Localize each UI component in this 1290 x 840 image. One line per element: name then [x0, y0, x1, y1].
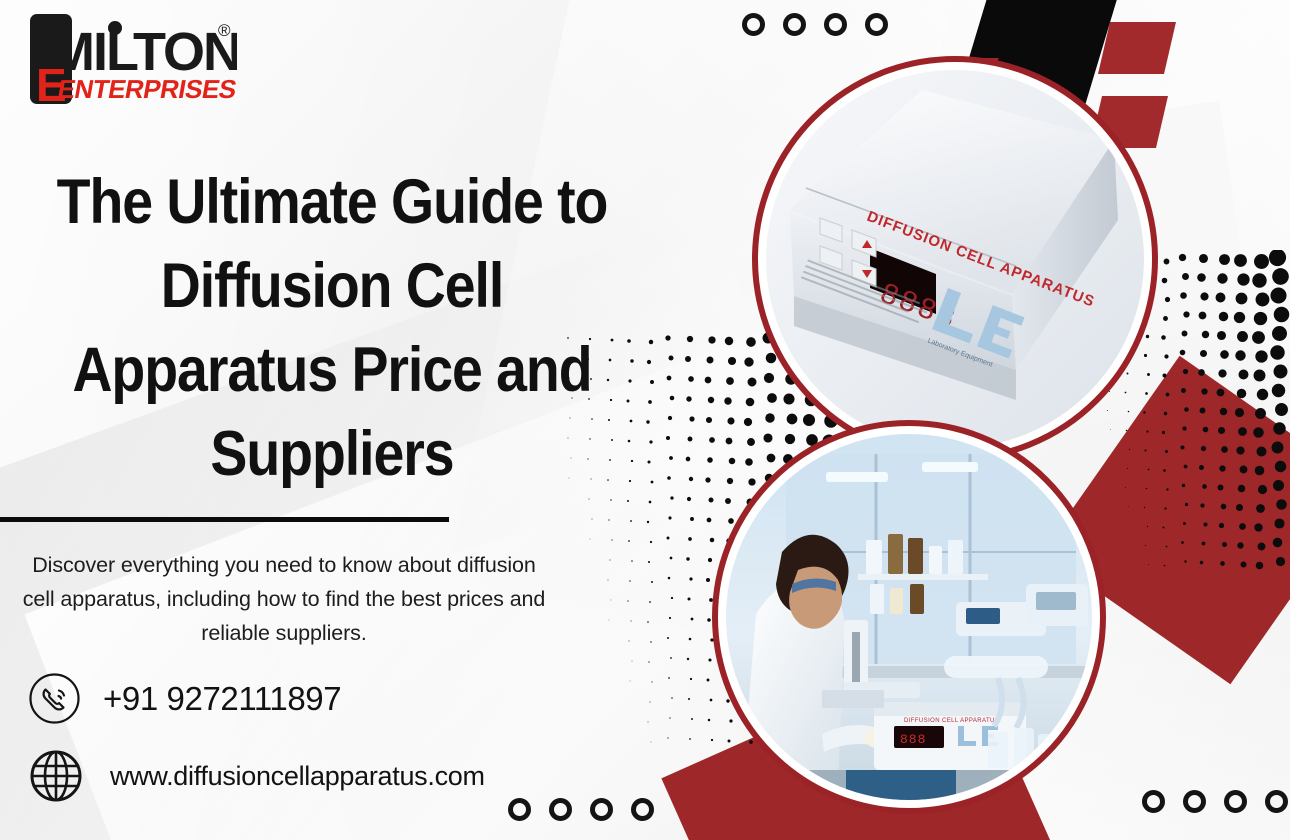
headline-line-1: The Ultimate Guide to — [45, 160, 619, 244]
ring-dot — [631, 798, 654, 821]
ring-dot — [1265, 790, 1288, 813]
logo-subtext: ENTERPRISES — [55, 74, 237, 104]
ring-dot — [1142, 790, 1165, 813]
headline-line-2: Diffusion Cell — [45, 244, 619, 328]
ring-dot — [1224, 790, 1247, 813]
divider — [0, 517, 449, 522]
phone-in-circle-icon — [28, 672, 81, 725]
company-logo[interactable]: MILTON E ENTERPRISES ® — [22, 10, 237, 110]
diffusion-cell-apparatus-product-photo[interactable]: DIFFUSION CELL APPARATUS 8888 Laboratory… — [766, 70, 1144, 448]
registered-trademark-icon: ® — [218, 21, 231, 40]
headline-line-3: Apparatus Price and — [45, 328, 619, 412]
ring-dot — [549, 798, 572, 821]
promotional-banner: MILTON E ENTERPRISES ® The Ultimate Guid… — [0, 0, 1290, 840]
subtitle: Discover everything you need to know abo… — [14, 548, 554, 650]
ring-dot — [1183, 790, 1206, 813]
ring-dot — [824, 13, 847, 36]
ring-dot — [590, 798, 613, 821]
headline-line-4: Suppliers — [45, 412, 619, 496]
dots-bottom-left — [508, 798, 654, 821]
ring-dot — [508, 798, 531, 821]
globe-icon — [28, 748, 84, 804]
page-title: The Ultimate Guide to Diffusion Cell App… — [45, 160, 619, 496]
ring-dot — [742, 13, 765, 36]
contact-phone[interactable]: +91 9272111897 — [28, 672, 341, 725]
svg-text:DIFFUSION CELL APPARATUS: DIFFUSION CELL APPARATUS — [904, 718, 999, 724]
website-url: www.diffusioncellapparatus.com — [110, 761, 485, 792]
red-parallelogram — [1098, 22, 1176, 74]
ring-dot — [865, 13, 888, 36]
dots-bottom-right — [1142, 790, 1288, 813]
ring-dot — [783, 13, 806, 36]
logo-dot — [108, 21, 122, 35]
phone-number: +91 9272111897 — [103, 680, 341, 718]
laboratory-scientist-photo[interactable]: 888 DIFFUSION CELL APPARATUS — [726, 434, 1092, 800]
svg-text:888: 888 — [900, 732, 926, 747]
dots-top — [742, 13, 888, 36]
logo-wordmark: MILTON — [50, 22, 237, 82]
contact-website[interactable]: www.diffusioncellapparatus.com — [28, 748, 485, 804]
